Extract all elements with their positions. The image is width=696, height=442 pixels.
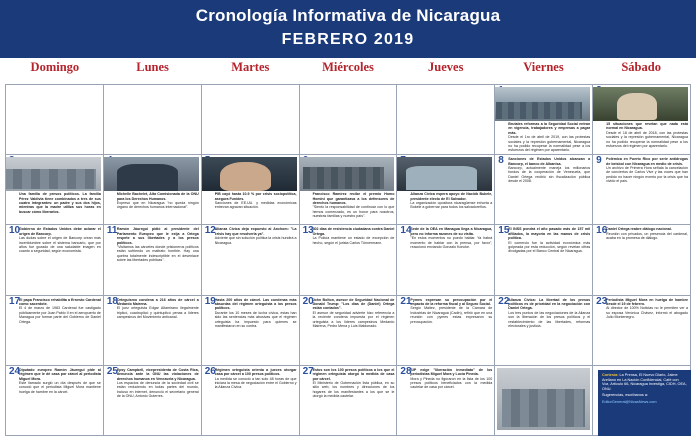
day-photo bbox=[397, 157, 492, 191]
calendar-day-empty bbox=[104, 85, 201, 154]
weekday-miercoles: Miércoles bbox=[299, 60, 397, 84]
day-headline: Alianza Cívica espera apoyo de Naciób Bu… bbox=[410, 192, 492, 201]
day-headline: Ramón Jáuregui pidió al presidente del P… bbox=[117, 227, 199, 245]
day-headline: Estos son los 100 presos políticos a los… bbox=[313, 368, 395, 381]
calendar-day-9[interactable]: 9Polémica en Puerto Rico por serie antid… bbox=[593, 155, 690, 224]
day-headline: Sede de la OEA en Managua llega a Nicara… bbox=[410, 227, 492, 236]
day-content: 302 días de resistencia ciudadana contra… bbox=[313, 227, 395, 245]
day-headline: Orteguismo condena a 216 años de cárcel … bbox=[117, 298, 199, 307]
day-number: 19 bbox=[205, 297, 216, 307]
day-content: Epsy Campbell, vicepresidenta de Costa R… bbox=[117, 368, 199, 399]
calendar-day-24[interactable]: 24Diputado europeo Ramón Jáuregui pide a… bbox=[6, 366, 103, 435]
day-body-text: El 4 de marzo de 1983 Cardenal fue casti… bbox=[19, 306, 101, 324]
day-number: 16 bbox=[596, 226, 607, 236]
day-body-text: Sergio Maltez, presidente de la Cámara d… bbox=[410, 306, 492, 324]
day-number: 14 bbox=[400, 226, 411, 236]
day-body-text: Desde el 1ro de abril de 2019, con las p… bbox=[508, 135, 590, 153]
calendar-day-6[interactable]: 6Francisco Ramírez recibe el premio Homo… bbox=[300, 155, 397, 224]
day-number: 8 bbox=[498, 156, 504, 166]
day-content: Alianza Cívica deja expuesto al Anchom: … bbox=[215, 227, 297, 245]
weekday-martes: Martes bbox=[201, 60, 299, 84]
day-body-text: La organización opositora nicaragüense e… bbox=[410, 201, 492, 210]
day-number: 15 bbox=[498, 226, 509, 236]
calendar-day-2[interactable]: 215 situaciones que revelan que nada est… bbox=[593, 85, 690, 154]
day-headline: 15 situaciones que revelan que nada está… bbox=[606, 122, 688, 131]
day-content: SIP exige "liberación inmediata" de los … bbox=[410, 368, 492, 390]
day-photo bbox=[497, 368, 590, 430]
day-body-text: Bancorp, actualmente maneja los millonar… bbox=[508, 166, 590, 184]
day-photo bbox=[300, 157, 395, 191]
day-body-text: "Visitamos las cárceles donde prisionero… bbox=[117, 245, 199, 263]
weekday-lunes: Lunes bbox=[104, 60, 202, 84]
day-photo bbox=[593, 87, 688, 121]
calendar-day-27[interactable]: 27Estos son los 100 presos políticos a l… bbox=[300, 366, 397, 435]
day-content: Estos son los 100 presos políticos a los… bbox=[313, 368, 395, 399]
calendar-day-4[interactable]: 4Michelle Bachelet, Alta Comisionada de … bbox=[104, 155, 201, 224]
day-headline: El papa Francisco rehabilita a Ernesto C… bbox=[19, 298, 101, 307]
day-photo bbox=[202, 157, 297, 191]
calendar-day-3[interactable]: 3Una familia de presos políticos. La fam… bbox=[6, 155, 103, 224]
day-number: 24 bbox=[9, 367, 20, 377]
weekday-domingo: Domingo bbox=[6, 60, 104, 84]
day-body-text: Durante los 10 meses de lucha cívica, es… bbox=[215, 311, 297, 329]
day-number: 17 bbox=[9, 297, 20, 307]
day-content: El papa Francisco rehabilita a Ernesto C… bbox=[19, 298, 101, 324]
calendar-day-28[interactable]: 28SIP exige "liberación inmediata" de lo… bbox=[397, 366, 494, 435]
day-number: 12 bbox=[205, 226, 216, 236]
day-headline: Periodista Miguel Mora en huelga de hamb… bbox=[606, 298, 688, 307]
day-content: Brutales reformas a la Seguridad Social … bbox=[508, 122, 590, 153]
calendar-day-7[interactable]: 7Alianza Cívica espera apoyo de Naciób B… bbox=[397, 155, 494, 224]
day-headline: Michelle Bachelet, Alta Comisionada de l… bbox=[117, 192, 199, 201]
day-content: PIB cayó hasta 10.9 % por crisis sociopo… bbox=[215, 192, 297, 210]
day-body-text: Desde el 18 de abril de 2018, con las pr… bbox=[606, 131, 688, 149]
calendar-day-14[interactable]: 14Sede de la OEA en Managua llega a Nica… bbox=[397, 225, 494, 294]
day-body-text: Los tres puntos de las negociaciones de … bbox=[508, 311, 590, 329]
day-body-text: "En estos momentos no puedo hablar. Ya h… bbox=[410, 236, 492, 249]
day-body-text: Este llamado surgió un día después de qu… bbox=[19, 381, 101, 394]
day-photo bbox=[104, 157, 199, 191]
day-content: John Bolton, asesor de Seguridad Naciona… bbox=[313, 298, 395, 329]
day-content: Gobierno de Estados Unidos debe aclarar … bbox=[19, 227, 101, 253]
day-headline: Alianza Cívica deja expuesto al Anchom: … bbox=[215, 227, 297, 236]
day-content: 15 situaciones que revelan que nada está… bbox=[606, 122, 688, 148]
day-body-text: "Siento la responsabilidad de continuar … bbox=[313, 205, 395, 218]
credits-title: Cortesía: bbox=[602, 373, 618, 377]
weekday-viernes: Viernes bbox=[495, 60, 593, 84]
day-body-text: El asesor de seguridad advierte hizo ref… bbox=[313, 311, 395, 329]
day-content: Sede de la OEA en Managua llega a Nicara… bbox=[410, 227, 492, 249]
calendar-day-empty bbox=[397, 85, 494, 154]
day-photo bbox=[6, 157, 101, 191]
calendar-day-22[interactable]: 22Alianza Cívica: La libertad de los pre… bbox=[495, 296, 592, 365]
day-headline: Hasta 200 años de cárcel. Las condenas m… bbox=[215, 298, 297, 311]
day-number: 11 bbox=[107, 226, 118, 236]
day-number: 23 bbox=[596, 297, 607, 307]
month-title: FEBRERO 2019 bbox=[0, 31, 696, 49]
day-content: Diputado europeo Ramón Jáuregui pide al … bbox=[19, 368, 101, 394]
day-content: Una familia de presos políticos. La fami… bbox=[19, 192, 101, 214]
day-content: Hasta 200 años de cárcel. Las condenas m… bbox=[215, 298, 297, 329]
calendar-day-empty bbox=[202, 85, 299, 154]
day-photo bbox=[495, 87, 590, 121]
page-header: Cronología Informativa de Nicaragua FEBR… bbox=[0, 0, 696, 58]
day-headline: 302 días de resistencia ciudadana contra… bbox=[313, 227, 395, 236]
calendar-day-12[interactable]: 12Alianza Cívica deja expuesto al Anchom… bbox=[202, 225, 299, 294]
day-content: Alianza Cívica: La libertad de los preso… bbox=[508, 298, 590, 329]
calendar-grid: 1Brutales reformas a la Seguridad Social… bbox=[5, 84, 691, 436]
day-headline: Epsy Campbell, vicepresidenta de Costa R… bbox=[117, 368, 199, 381]
day-headline: Gobierno de Estados Unidos debe aclarar … bbox=[19, 227, 101, 236]
day-body-text: El juez orteguista Edgar Altamirano ileg… bbox=[117, 306, 199, 319]
calendar-day-16[interactable]: 16Daniel Ortega reabre diálogo nacional.… bbox=[593, 225, 690, 294]
day-number: 27 bbox=[303, 367, 314, 377]
day-body-text: Un archivo de Primera Hora señala la can… bbox=[606, 166, 688, 184]
day-content: Francisco Ramírez recibe el premio Homo … bbox=[313, 192, 395, 218]
day-headline: John Bolton, asesor de Seguridad Naciona… bbox=[313, 298, 395, 311]
calendar-day-5[interactable]: 5PIB cayó hasta 10.9 % por crisis sociop… bbox=[202, 155, 299, 224]
calendar-day-10[interactable]: 10Gobierno de Estados Unidos debe aclara… bbox=[6, 225, 103, 294]
day-headline: Pymes expresan su preocupación por el im… bbox=[410, 298, 492, 307]
day-content: El INSS pondrá el año pasado más de 157 … bbox=[508, 227, 590, 253]
day-number: 9 bbox=[596, 156, 602, 166]
credits-suggestions: Sugerencias, escríbanos a: bbox=[602, 393, 687, 398]
day-content: Daniel Ortega reabre diálogo nacional.Re… bbox=[606, 227, 688, 240]
day-body-text: Al director de 100% Noticias no le permi… bbox=[606, 306, 688, 319]
day-headline: Diputado europeo Ramón Jáuregui pide al … bbox=[19, 368, 101, 381]
calendar-day-19[interactable]: 19Hasta 200 años de cárcel. Las condenas… bbox=[202, 296, 299, 365]
day-content: Ramón Jáuregui pidió al presidente del P… bbox=[117, 227, 199, 262]
day-body-text: Advierte que sin solución política la cr… bbox=[215, 236, 297, 245]
calendar-day-15[interactable]: 15El INSS pondrá el año pasado más de 15… bbox=[495, 225, 592, 294]
day-content: Michelle Bachelet, Alta Comisionada de l… bbox=[117, 192, 199, 210]
calendar-day-18[interactable]: 18Orteguismo condena a 216 años de cárce… bbox=[104, 296, 201, 365]
credits-box: Cortesía: La Prensa, El Nuevo Diario, Ja… bbox=[598, 370, 691, 436]
calendar-day-empty bbox=[495, 366, 592, 435]
day-body-text: Sanciones de EE.UU. y medidas económicas… bbox=[215, 201, 297, 210]
day-content: Régimen orteguista orienta a jueces otor… bbox=[215, 368, 297, 390]
day-content: Pymes expresan su preocupación por el im… bbox=[410, 298, 492, 324]
day-headline: El INSS pondrá el año pasado más de 157 … bbox=[508, 227, 590, 240]
day-body-text: El Ministerio de Gobernación lista públi… bbox=[313, 381, 395, 399]
day-headline: Francisco Ramírez recibe el premio Homo … bbox=[313, 192, 395, 205]
day-body-text: La medida se conoció a tan solo 48 horas… bbox=[215, 377, 297, 390]
day-body-text: Expresó que en Nicaragua "no queda ningú… bbox=[117, 201, 199, 210]
day-body-text: Las dudas sobre el origen de Bancorp cre… bbox=[19, 236, 101, 254]
day-headline: Alianza Cívica: La libertad de los preso… bbox=[508, 298, 590, 311]
day-number: 21 bbox=[400, 297, 411, 307]
calendar-day-empty bbox=[300, 85, 397, 154]
day-headline: Polémica en Puerto Rico por serie antidr… bbox=[606, 157, 688, 166]
day-number: 25 bbox=[107, 367, 118, 377]
day-content: Sanciones de Estados Unidos alcanzan a B… bbox=[508, 157, 590, 183]
day-number: 28 bbox=[400, 367, 411, 377]
day-headline: Sanciones de Estados Unidos alcanzan a B… bbox=[508, 157, 590, 166]
calendar-day-20[interactable]: 20John Bolton, asesor de Seguridad Nacio… bbox=[300, 296, 397, 365]
calendar-day-11[interactable]: 11Ramón Jáuregui pidió al presidente del… bbox=[104, 225, 201, 294]
weekday-sabado: Sábado bbox=[592, 60, 690, 84]
credits-email[interactable]: EditorGeneral@NicasNews.com bbox=[602, 400, 687, 405]
day-content: Alianza Cívica espera apoyo de Naciób Bu… bbox=[410, 192, 492, 210]
day-headline: Una familia de presos políticos. La fami… bbox=[19, 192, 101, 214]
day-number: 10 bbox=[9, 226, 20, 236]
day-number: 18 bbox=[107, 297, 118, 307]
day-headline: Brutales reformas a la Seguridad Social … bbox=[508, 122, 590, 135]
day-headline: SIP exige "liberación inmediata" de los … bbox=[410, 368, 492, 377]
day-content: Orteguismo condena a 216 años de cárcel … bbox=[117, 298, 199, 320]
calendar-day-13[interactable]: 13302 días de resistencia ciudadana cont… bbox=[300, 225, 397, 294]
day-body-text: La Policía mantiene un estado de excepci… bbox=[313, 236, 395, 245]
day-content: Periodista Miguel Mora en huelga de hamb… bbox=[606, 298, 688, 320]
calendar-day-26[interactable]: 26Régimen orteguista orienta a jueces ot… bbox=[202, 366, 299, 435]
calendar-day-23[interactable]: 23Periodista Miguel Mora en huelga de ha… bbox=[593, 296, 690, 365]
day-number: 22 bbox=[498, 297, 509, 307]
day-body-text: El comercio fue la actividad económica m… bbox=[508, 241, 590, 254]
day-headline: Régimen orteguista orienta a jueces otor… bbox=[215, 368, 297, 377]
day-number: 13 bbox=[303, 226, 314, 236]
page-title: Cronología Informativa de Nicaragua bbox=[0, 6, 696, 26]
calendar-day-21[interactable]: 21Pymes expresan su preocupación por el … bbox=[397, 296, 494, 365]
day-headline: PIB cayó hasta 10.9 % por crisis sociopo… bbox=[215, 192, 297, 201]
calendar-day-1[interactable]: 1Brutales reformas a la Seguridad Social… bbox=[495, 85, 592, 154]
day-body-text: Mora y Pineda no figuraron en la lista d… bbox=[410, 377, 492, 390]
calendar-day-empty bbox=[6, 85, 103, 154]
calendar-page: Cronología Informativa de Nicaragua FEBR… bbox=[0, 0, 696, 442]
day-body-text: Los espacios de denuncia de la sociedad … bbox=[117, 381, 199, 399]
day-content: Polémica en Puerto Rico por serie antidr… bbox=[606, 157, 688, 183]
weekday-jueves: Jueves bbox=[397, 60, 495, 84]
calendar-day-25[interactable]: 25Epsy Campbell, vicepresidenta de Costa… bbox=[104, 366, 201, 435]
day-body-text: Reunión con privados, un presencia del c… bbox=[606, 232, 688, 241]
calendar-day-17[interactable]: 17El papa Francisco rehabilita a Ernesto… bbox=[6, 296, 103, 365]
calendar-day-8[interactable]: 8Sanciones de Estados Unidos alcanzan a … bbox=[495, 155, 592, 224]
day-number: 26 bbox=[205, 367, 216, 377]
day-number: 20 bbox=[303, 297, 314, 307]
weekday-header-row: Domingo Lunes Martes Miércoles Jueves Vi… bbox=[6, 60, 690, 84]
